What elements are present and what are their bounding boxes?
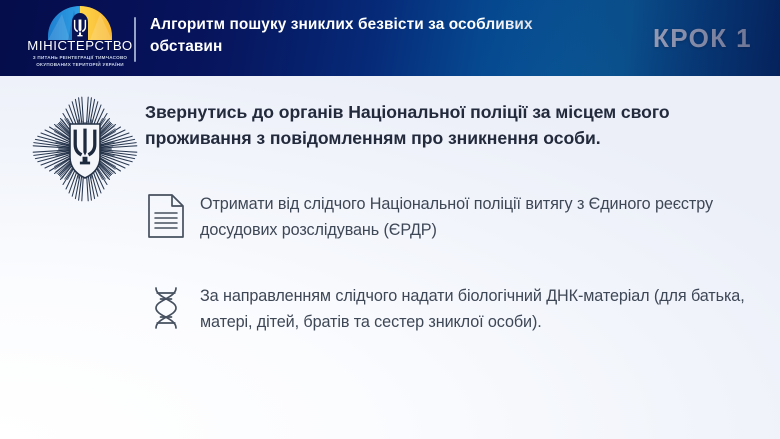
slide-root: МІНІСТЕРСТВО З ПИТАНЬ РЕІНТЕГРАЦІЇ ТИМЧА…	[0, 0, 780, 439]
dna-helix-icon	[145, 285, 187, 331]
lead-paragraph: Звернутись до органів Національної поліц…	[145, 100, 690, 151]
header-divider	[134, 17, 136, 62]
ministry-logo: МІНІСТЕРСТВО З ПИТАНЬ РЕІНТЕГРАЦІЇ ТИМЧА…	[21, 6, 139, 74]
list-item: Отримати від слідчого Національної поліц…	[145, 192, 745, 243]
ministry-logo-name: МІНІСТЕРСТВО	[21, 39, 139, 52]
list-item-text: Отримати від слідчого Національної поліц…	[200, 192, 745, 243]
header-title: Алгоритм пошуку зниклих безвісти за особ…	[150, 14, 570, 58]
list-item: За направленням слідчого надати біологіч…	[145, 284, 745, 335]
list-item-text: За направленням слідчого надати біологіч…	[200, 284, 745, 335]
national-police-star-emblem-icon	[31, 94, 139, 204]
header-band: МІНІСТЕРСТВО З ПИТАНЬ РЕІНТЕГРАЦІЇ ТИМЧА…	[0, 0, 780, 76]
ministry-logo-subtitle: З ПИТАНЬ РЕІНТЕГРАЦІЇ ТИМЧАСОВО ОКУПОВАН…	[21, 54, 139, 68]
document-icon	[145, 193, 187, 239]
ukraine-tryzub-arch-icon	[48, 6, 112, 40]
step-badge: КРОК 1	[653, 18, 752, 58]
